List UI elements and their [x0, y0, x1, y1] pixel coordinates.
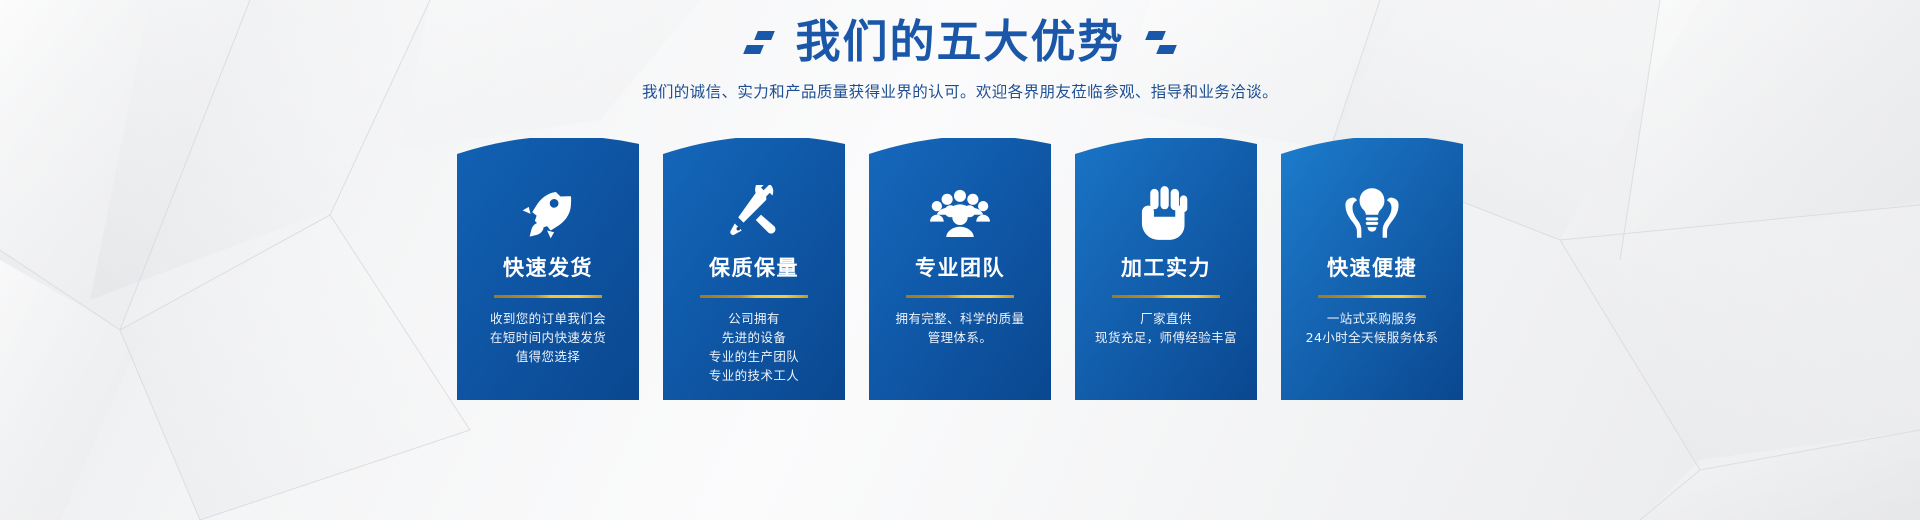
team-group-icon — [930, 182, 990, 244]
diamond-pair-icon-right — [1147, 31, 1175, 54]
card-divider — [1318, 295, 1426, 298]
card-title: 保质保量 — [709, 252, 799, 282]
card-divider — [494, 295, 602, 298]
title-row: 我们的五大优势 — [0, 14, 1920, 70]
advantage-card-fast-convenient[interactable]: 快速便捷 一站式采购服务 24小时全天候服务体系 — [1281, 138, 1463, 400]
card-divider — [700, 295, 808, 298]
card-description: 拥有完整、科学的质量 管理体系。 — [895, 309, 1024, 347]
rocket-icon — [520, 182, 576, 244]
section-header: 我们的五大优势 我们的诚信、实力和产品质量获得业界的认可。欢迎各界朋友莅临参观、… — [0, 14, 1920, 102]
card-description: 厂家直供 现货充足，师傅经验丰富 — [1095, 309, 1237, 347]
advantage-card-fast-shipping[interactable]: 快速发货 收到您的订单我们会 在短时间内快速发货 值得您选择 — [457, 138, 639, 400]
card-title: 加工实力 — [1121, 252, 1211, 282]
card-description: 一站式采购服务 24小时全天候服务体系 — [1306, 309, 1439, 347]
wrench-screwdriver-icon — [726, 182, 782, 244]
page-title: 我们的五大优势 — [795, 14, 1124, 70]
card-title: 专业团队 — [915, 252, 1005, 282]
page-subtitle: 我们的诚信、实力和产品质量获得业界的认可。欢迎各界朋友莅临参观、指导和业务洽谈。 — [0, 80, 1920, 102]
card-title: 快速便捷 — [1327, 252, 1417, 282]
advantage-card-quality-assurance[interactable]: 保质保量 公司拥有 先进的设备 专业的生产团队 专业的技术工人 — [663, 138, 845, 400]
card-description: 收到您的订单我们会 在短时间内快速发货 值得您选择 — [490, 309, 606, 366]
advantage-card-professional-team[interactable]: 专业团队 拥有完整、科学的质量 管理体系。 — [869, 138, 1051, 400]
advantage-card-processing-strength[interactable]: 加工实力 厂家直供 现货充足，师傅经验丰富 — [1075, 138, 1257, 400]
card-description: 公司拥有 先进的设备 专业的生产团队 专业的技术工人 — [709, 309, 799, 385]
card-title: 快速发货 — [503, 252, 593, 282]
card-divider — [1112, 295, 1220, 298]
card-divider — [906, 295, 1014, 298]
advantage-card-list: 快速发货 收到您的订单我们会 在短时间内快速发货 值得您选择 — [0, 138, 1920, 400]
diamond-pair-icon-left — [745, 31, 773, 54]
lightbulb-hands-icon — [1341, 182, 1403, 244]
fist-hand-icon — [1141, 182, 1191, 244]
